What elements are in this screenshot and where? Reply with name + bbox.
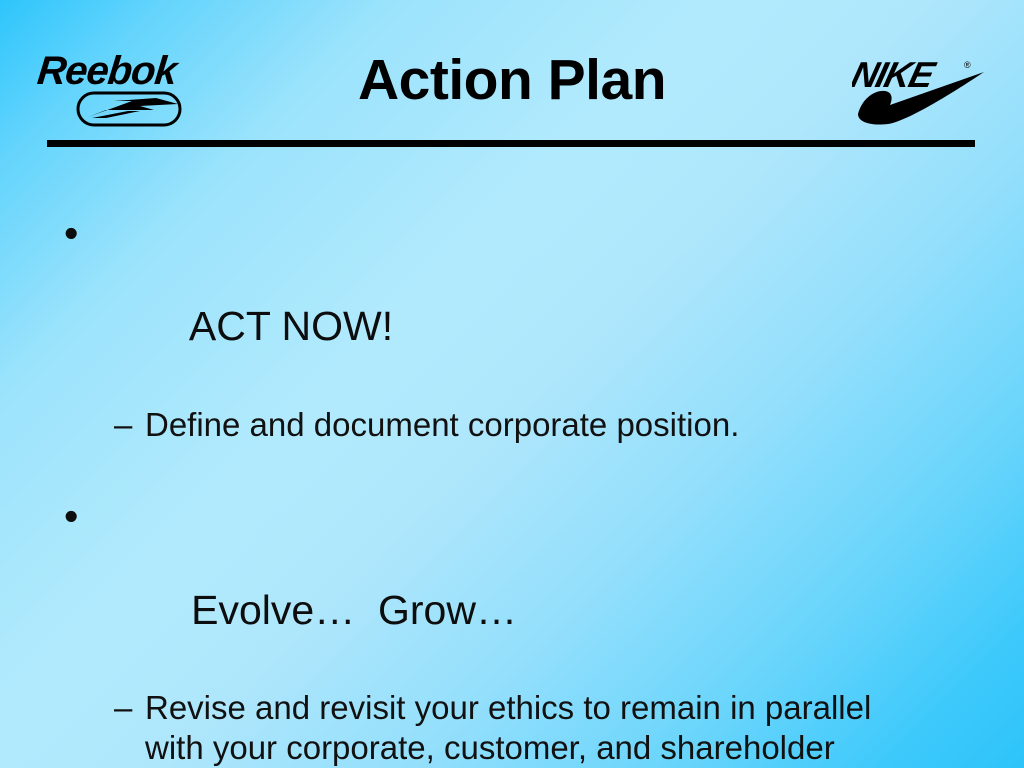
bullet-level2: – Define and document corporate position… [0, 405, 1024, 445]
presentation-slide: Reebok Action Plan NIKE ® [0, 0, 1024, 768]
svg-text:NIKE: NIKE [852, 55, 940, 95]
bullet-level1: • ACT NOW! [0, 210, 1024, 397]
bullet-level1-text: ACT NOW! [189, 303, 393, 349]
bullet-group: • Evolve… Grow… – Revise and revisit you… [0, 493, 1024, 768]
title-divider [47, 140, 975, 147]
slide-header: Reebok Action Plan NIKE ® [0, 0, 1024, 152]
bullet-marker-icon: • [64, 210, 78, 257]
bullet-level2-text: Define and document corporate position. [145, 406, 739, 443]
bullet-group: • ACT NOW! – Define and document corpora… [0, 210, 1024, 445]
bullet-level1-text: Evolve… Grow… [191, 587, 517, 633]
bullet-marker-icon: • [64, 493, 78, 540]
bullet-level2: – Revise and revisit your ethics to rema… [0, 688, 1024, 768]
bullet-level1: • Evolve… Grow… [0, 493, 1024, 680]
dash-marker-icon: – [114, 405, 132, 445]
bullet-level2-text: Revise and revisit your ethics to remain… [145, 689, 871, 768]
svg-text:®: ® [964, 60, 971, 70]
nike-logo: NIKE ® [852, 52, 988, 130]
slide-body: • ACT NOW! – Define and document corpora… [0, 210, 1024, 768]
bullet-group-spacer [0, 445, 1024, 493]
dash-marker-icon: – [114, 688, 132, 728]
